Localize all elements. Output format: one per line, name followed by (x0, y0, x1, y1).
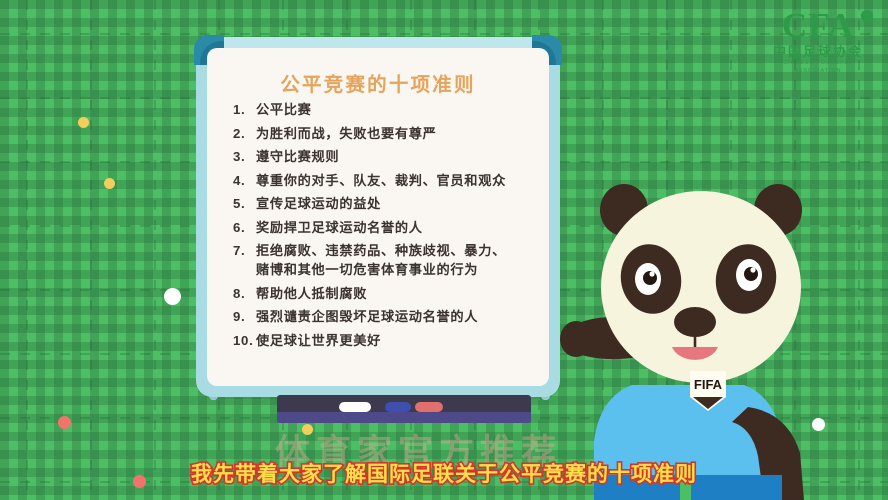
football-icon (861, 10, 873, 22)
rule-item: 10.使足球让世界更美好 (233, 331, 535, 350)
dot-white-1 (164, 288, 181, 305)
rule-text: 遵守比赛规则 (256, 147, 535, 166)
rule-text: 奖励捍卫足球运动名誉的人 (256, 218, 535, 237)
rule-item: 4.尊重你的对手、队友、裁判、官员和观众 (233, 171, 535, 190)
rule-number: 9. (233, 307, 256, 326)
cfa-logo-english: CHINESE FOOTBALL ASSOCIATION (762, 59, 874, 75)
rule-number: 5. (233, 194, 256, 213)
rule-text: 为胜利而战，失败也要有尊严 (256, 124, 535, 143)
dot-yellow-2 (104, 178, 115, 189)
rules-list: 1.公平比赛2.为胜利而战，失败也要有尊严3.遵守比赛规则4.尊重你的对手、队友… (233, 100, 535, 354)
rule-item: 7.拒绝腐败、违禁药品、种族歧视、暴力、赌博和其他一切危害体育事业的行为 (233, 241, 535, 279)
panda-nose (674, 307, 716, 337)
rule-item: 1.公平比赛 (233, 100, 535, 119)
cfa-logo-chinese: 中国足球协会 (762, 44, 874, 59)
rule-text: 公平比赛 (256, 100, 535, 119)
marker-blue (385, 402, 411, 412)
whiteboard-surface: 公平竞赛的十项准则 1.公平比赛2.为胜利而战，失败也要有尊严3.遵守比赛规则4… (207, 48, 549, 386)
marker-white (339, 402, 371, 412)
whiteboard: 公平竞赛的十项准则 1.公平比赛2.为胜利而战，失败也要有尊严3.遵守比赛规则4… (196, 37, 560, 397)
rule-text: 尊重你的对手、队友、裁判、官员和观众 (256, 171, 535, 190)
rule-text: 宣传足球运动的益处 (256, 194, 535, 213)
cfa-logo: CFA 中国足球协会 CHINESE FOOTBALL ASSOCIATION (762, 8, 874, 75)
rule-text: 帮助他人抵制腐败 (256, 284, 535, 303)
rule-item: 8.帮助他人抵制腐败 (233, 284, 535, 303)
rule-text: 拒绝腐败、违禁药品、种族歧视、暴力、赌博和其他一切危害体育事业的行为 (256, 241, 535, 279)
panda-eye-glint-right (750, 267, 755, 272)
rule-number: 10. (233, 331, 256, 350)
rule-number: 3. (233, 147, 256, 166)
grid-line-v (90, 0, 92, 500)
panda-left-paw (560, 321, 592, 357)
dot-yellow-3 (302, 424, 313, 435)
dot-yellow-1 (78, 117, 89, 128)
rule-text-line2: 赌博和其他一切危害体育事业的行为 (256, 260, 535, 279)
rule-text: 使足球让世界更美好 (256, 331, 535, 350)
grid-line-v (26, 0, 28, 500)
rule-number: 6. (233, 218, 256, 237)
subtitle-caption: 我先带着大家了解国际足联关于公平竞赛的十项准则 (0, 458, 888, 488)
marker-tray (277, 395, 531, 423)
rule-item: 9.强烈谴责企图毁坏足球运动名誉的人 (233, 307, 535, 326)
board-title: 公平竞赛的十项准则 (207, 68, 549, 97)
grid-line-v (154, 0, 156, 500)
dot-red-1 (58, 416, 71, 429)
rule-number: 7. (233, 241, 256, 260)
panda-mascot: FIFA (540, 175, 888, 500)
marker-red (415, 402, 443, 412)
rule-number: 2. (233, 124, 256, 143)
video-frame: CFA 中国足球协会 CHINESE FOOTBALL ASSOCIATION … (0, 0, 888, 500)
rule-item: 5.宣传足球运动的益处 (233, 194, 535, 213)
rule-item: 2.为胜利而战，失败也要有尊严 (233, 124, 535, 143)
rule-item: 6.奖励捍卫足球运动名誉的人 (233, 218, 535, 237)
panda-eye-glint-left (649, 271, 654, 276)
fifa-badge-text: FIFA (694, 377, 723, 392)
rule-number: 8. (233, 284, 256, 303)
rule-number: 4. (233, 171, 256, 190)
rule-item: 3.遵守比赛规则 (233, 147, 535, 166)
rule-number: 1. (233, 100, 256, 119)
tray-lip (277, 412, 531, 423)
rule-text: 强烈谴责企图毁坏足球运动名誉的人 (256, 307, 535, 326)
cfa-logo-mark: CFA (762, 8, 874, 44)
grid-line-h (0, 33, 888, 35)
panda-illustration: FIFA (540, 175, 888, 500)
